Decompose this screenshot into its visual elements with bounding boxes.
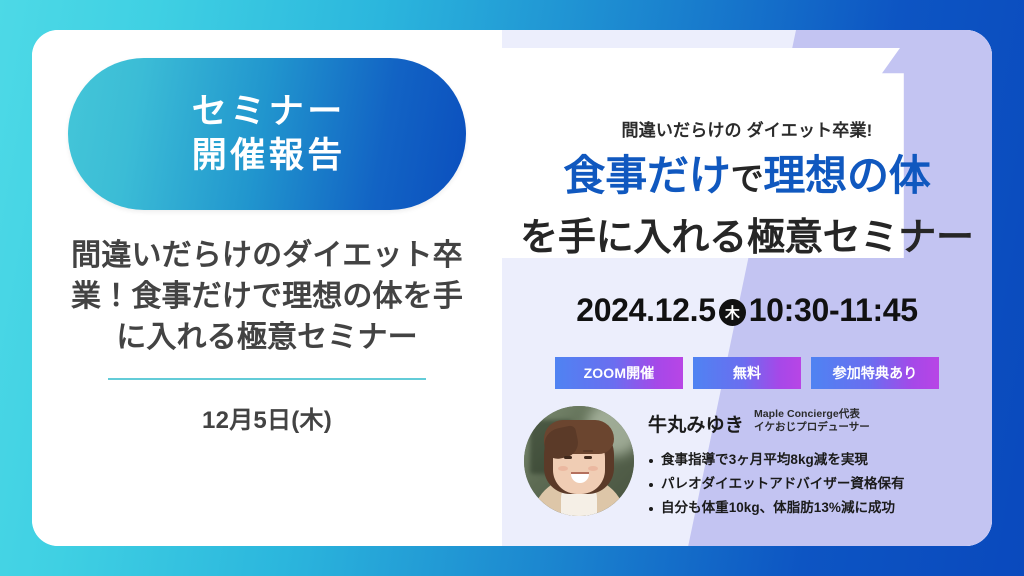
flyer-event-time: 10:30-11:45 bbox=[749, 292, 918, 328]
divider bbox=[108, 378, 426, 380]
left-summary-panel: セミナー 開催報告 間違いだらけのダイエット卒業！食事だけで理想の体を手に入れる… bbox=[32, 30, 502, 546]
speaker-section: 牛丸みゆき Maple Concierge代表 イケおじプロデューサー 食事指導… bbox=[524, 406, 978, 520]
speaker-role-1: Maple Concierge代表 bbox=[754, 408, 870, 421]
day-of-week-badge: 木 bbox=[719, 299, 746, 326]
badge-bonus: 参加特典あり bbox=[811, 357, 939, 389]
speaker-credential: 自分も体重10kg、体脂肪13%減に成功 bbox=[648, 496, 978, 520]
speaker-name: 牛丸みゆき bbox=[648, 410, 744, 437]
seminar-report-badge: セミナー 開催報告 bbox=[68, 58, 466, 210]
flyer-headline-line2: を手に入れる極意セミナー bbox=[502, 206, 992, 261]
speaker-role-2: イケおじプロデューサー bbox=[754, 421, 870, 434]
speaker-credentials-list: 食事指導で3ヶ月平均8kg減を実現 パレオダイエットアドバイザー資格保有 自分も… bbox=[648, 448, 978, 520]
seminar-title: 間違いだらけのダイエット卒業！食事だけで理想の体を手に入れる極意セミナー bbox=[66, 236, 468, 358]
speaker-credential: パレオダイエットアドバイザー資格保有 bbox=[648, 472, 978, 496]
flyer-thumbnail: 間違いだらけの ダイエット卒業! 食事だけで理想の体 を手に入れる極意セミナー … bbox=[502, 30, 992, 546]
speaker-avatar bbox=[524, 406, 634, 516]
speaker-credential: 食事指導で3ヶ月平均8kg減を実現 bbox=[648, 448, 978, 472]
badge-zoom: ZOOM開催 bbox=[555, 357, 683, 389]
seminar-report-card: セミナー 開催報告 間違いだらけのダイエット卒業！食事だけで理想の体を手に入れる… bbox=[32, 30, 992, 546]
flyer-headline-part1: 食事だけ bbox=[563, 152, 730, 199]
flyer-event-date: 2024.12.5 bbox=[576, 292, 715, 328]
speaker-roles: Maple Concierge代表 イケおじプロデューサー bbox=[754, 408, 870, 437]
flyer-event-datetime: 2024.12.5木10:30-11:45 bbox=[502, 292, 992, 329]
seminar-date: 12月5日(木) bbox=[62, 400, 472, 435]
flyer-headline-line1: 食事だけで理想の体 bbox=[502, 152, 992, 201]
seminar-badge-line1: セミナー bbox=[188, 90, 346, 134]
flyer-headline-part3: 理想の体 bbox=[763, 152, 930, 199]
flyer-badge-row: ZOOM開催 無料 参加特典あり bbox=[502, 357, 992, 389]
flyer-headline-part2: で bbox=[731, 160, 764, 197]
seminar-badge-line2: 開催報告 bbox=[188, 134, 346, 178]
badge-free: 無料 bbox=[693, 357, 801, 389]
flyer-kicker: 間違いだらけの ダイエット卒業! bbox=[502, 116, 992, 141]
